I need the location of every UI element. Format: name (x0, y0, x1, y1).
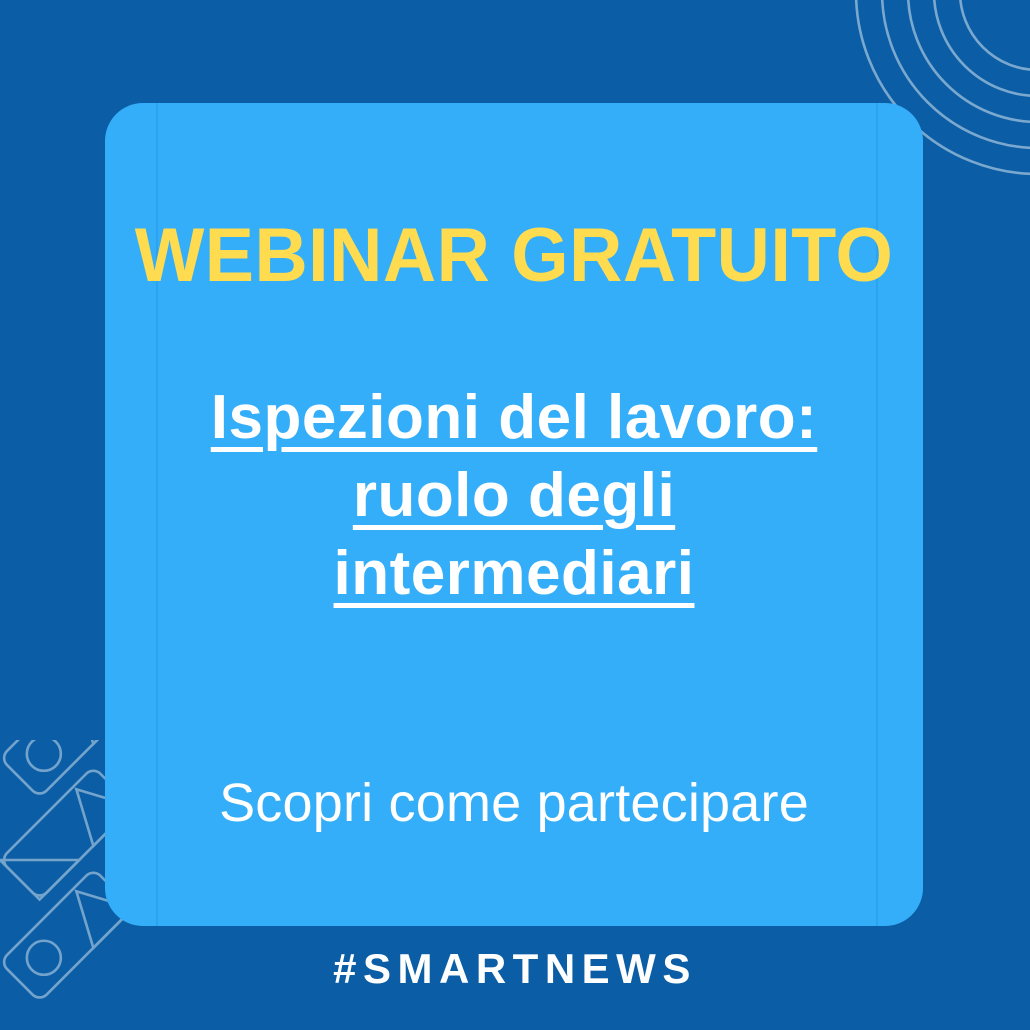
card-content: WEBINAR GRATUITO Ispezioni del lavoro: r… (105, 103, 923, 926)
headline-title: Ispezioni del lavoro: ruolo degli interm… (164, 379, 864, 613)
hashtag-label: #SMARTNEWS (333, 948, 697, 990)
poster: WEBINAR GRATUITO Ispezioni del lavoro: r… (0, 0, 1030, 1030)
subheadline-text: Scopri come partecipare (204, 773, 824, 835)
content-card: WEBINAR GRATUITO Ispezioni del lavoro: r… (105, 103, 923, 926)
kicker-label: WEBINAR GRATUITO (135, 218, 894, 294)
footer: #SMARTNEWS (0, 948, 1030, 990)
